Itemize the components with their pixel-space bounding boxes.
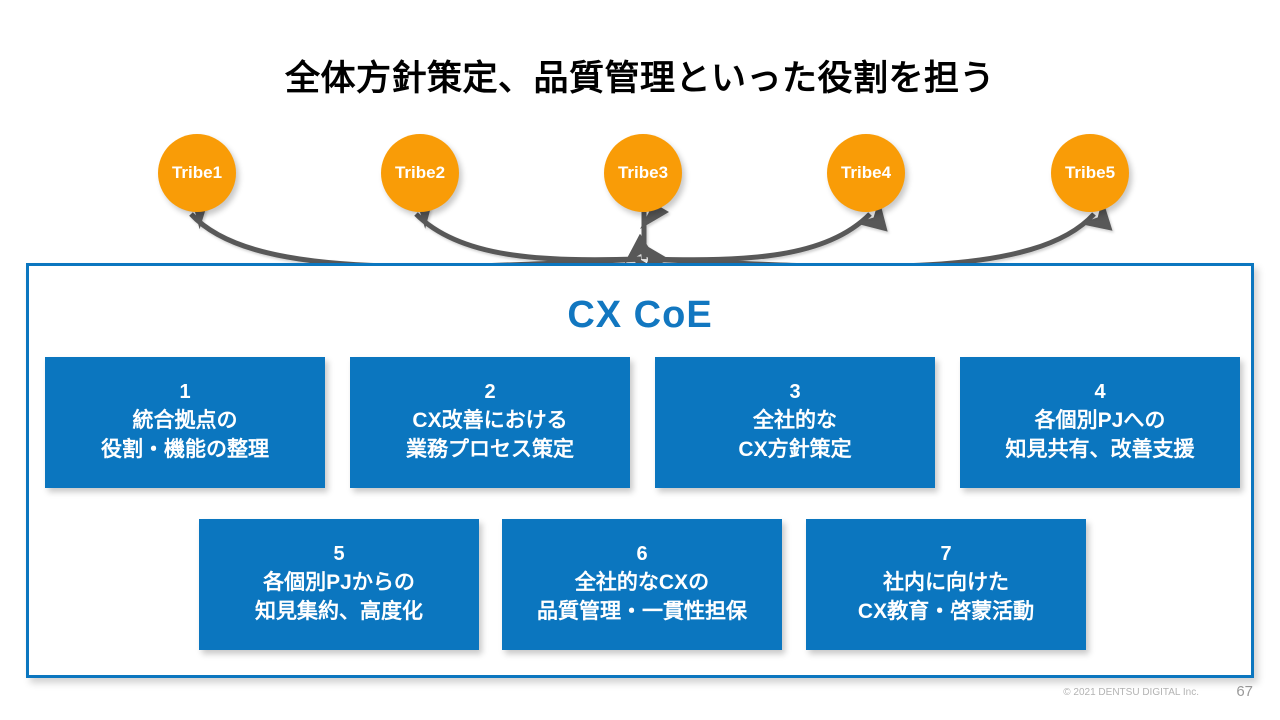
role-number: 3 [789, 380, 800, 405]
footer-copyright: © 2021 DENTSU DIGITAL Inc. [1063, 687, 1199, 698]
role-text-line2: 業務プロセス策定 [406, 436, 574, 465]
arrow-tribe1 [191, 214, 641, 266]
tribe-node-label: Tribe4 [841, 163, 891, 183]
role-box-5[interactable]: 5 各個別PJからの 知見集約、高度化 [199, 519, 479, 650]
role-number: 1 [179, 380, 190, 405]
role-box-2[interactable]: 2 CX改善における 業務プロセス策定 [350, 357, 630, 488]
footer-page-number: 67 [1236, 683, 1253, 700]
role-text-line2: 品質管理・一貫性担保 [537, 598, 747, 627]
role-box-1[interactable]: 1 統合拠点の 役割・機能の整理 [45, 357, 325, 488]
tribe-node-1[interactable]: Tribe1 [158, 134, 236, 212]
arrow-tribe5 [648, 214, 1094, 266]
role-number: 7 [940, 542, 951, 567]
role-text-line2: 役割・機能の整理 [101, 436, 269, 465]
role-number: 4 [1094, 380, 1105, 405]
role-text-line2: 知見共有、改善支援 [1006, 436, 1195, 465]
tribe-node-label: Tribe3 [618, 163, 668, 183]
role-text-line2: CX教育・啓蒙活動 [858, 598, 1034, 627]
tribe-node-label: Tribe2 [395, 163, 445, 183]
tribe-node-3[interactable]: Tribe3 [604, 134, 682, 212]
role-number: 6 [636, 542, 647, 567]
tribe-node-5[interactable]: Tribe5 [1051, 134, 1129, 212]
role-text-line1: 統合拠点の [133, 407, 238, 436]
role-text-line1: CX改善における [412, 407, 567, 436]
role-box-7[interactable]: 7 社内に向けた CX教育・啓蒙活動 [806, 519, 1086, 650]
role-text-line1: 社内に向けた [883, 569, 1009, 598]
role-number: 2 [484, 380, 495, 405]
tribe-node-label: Tribe5 [1065, 163, 1115, 183]
role-text-line2: CX方針策定 [738, 436, 851, 465]
role-text-line2: 知見集約、高度化 [255, 598, 423, 627]
tribe-node-label: Tribe1 [172, 163, 222, 183]
tribe-node-4[interactable]: Tribe4 [827, 134, 905, 212]
role-text-line1: 各個別PJへの [1035, 407, 1166, 436]
cx-coe-heading: CX CoE [29, 294, 1251, 337]
role-number: 5 [333, 542, 344, 567]
role-text-line1: 全社的なCXの [575, 569, 709, 598]
tribe-node-2[interactable]: Tribe2 [381, 134, 459, 212]
role-text-line1: 全社的な [753, 407, 837, 436]
slide-canvas: 全体方針策定、品質管理といった役割を担う [0, 0, 1280, 720]
role-box-6[interactable]: 6 全社的なCXの 品質管理・一貫性担保 [502, 519, 782, 650]
role-box-3[interactable]: 3 全社的な CX方針策定 [655, 357, 935, 488]
arrow-tribe2 [416, 214, 641, 260]
role-box-4[interactable]: 4 各個別PJへの 知見共有、改善支援 [960, 357, 1240, 488]
page-title: 全体方針策定、品質管理といった役割を担う [0, 50, 1280, 101]
arrow-tribe4 [648, 214, 870, 260]
role-text-line1: 各個別PJからの [263, 569, 415, 598]
